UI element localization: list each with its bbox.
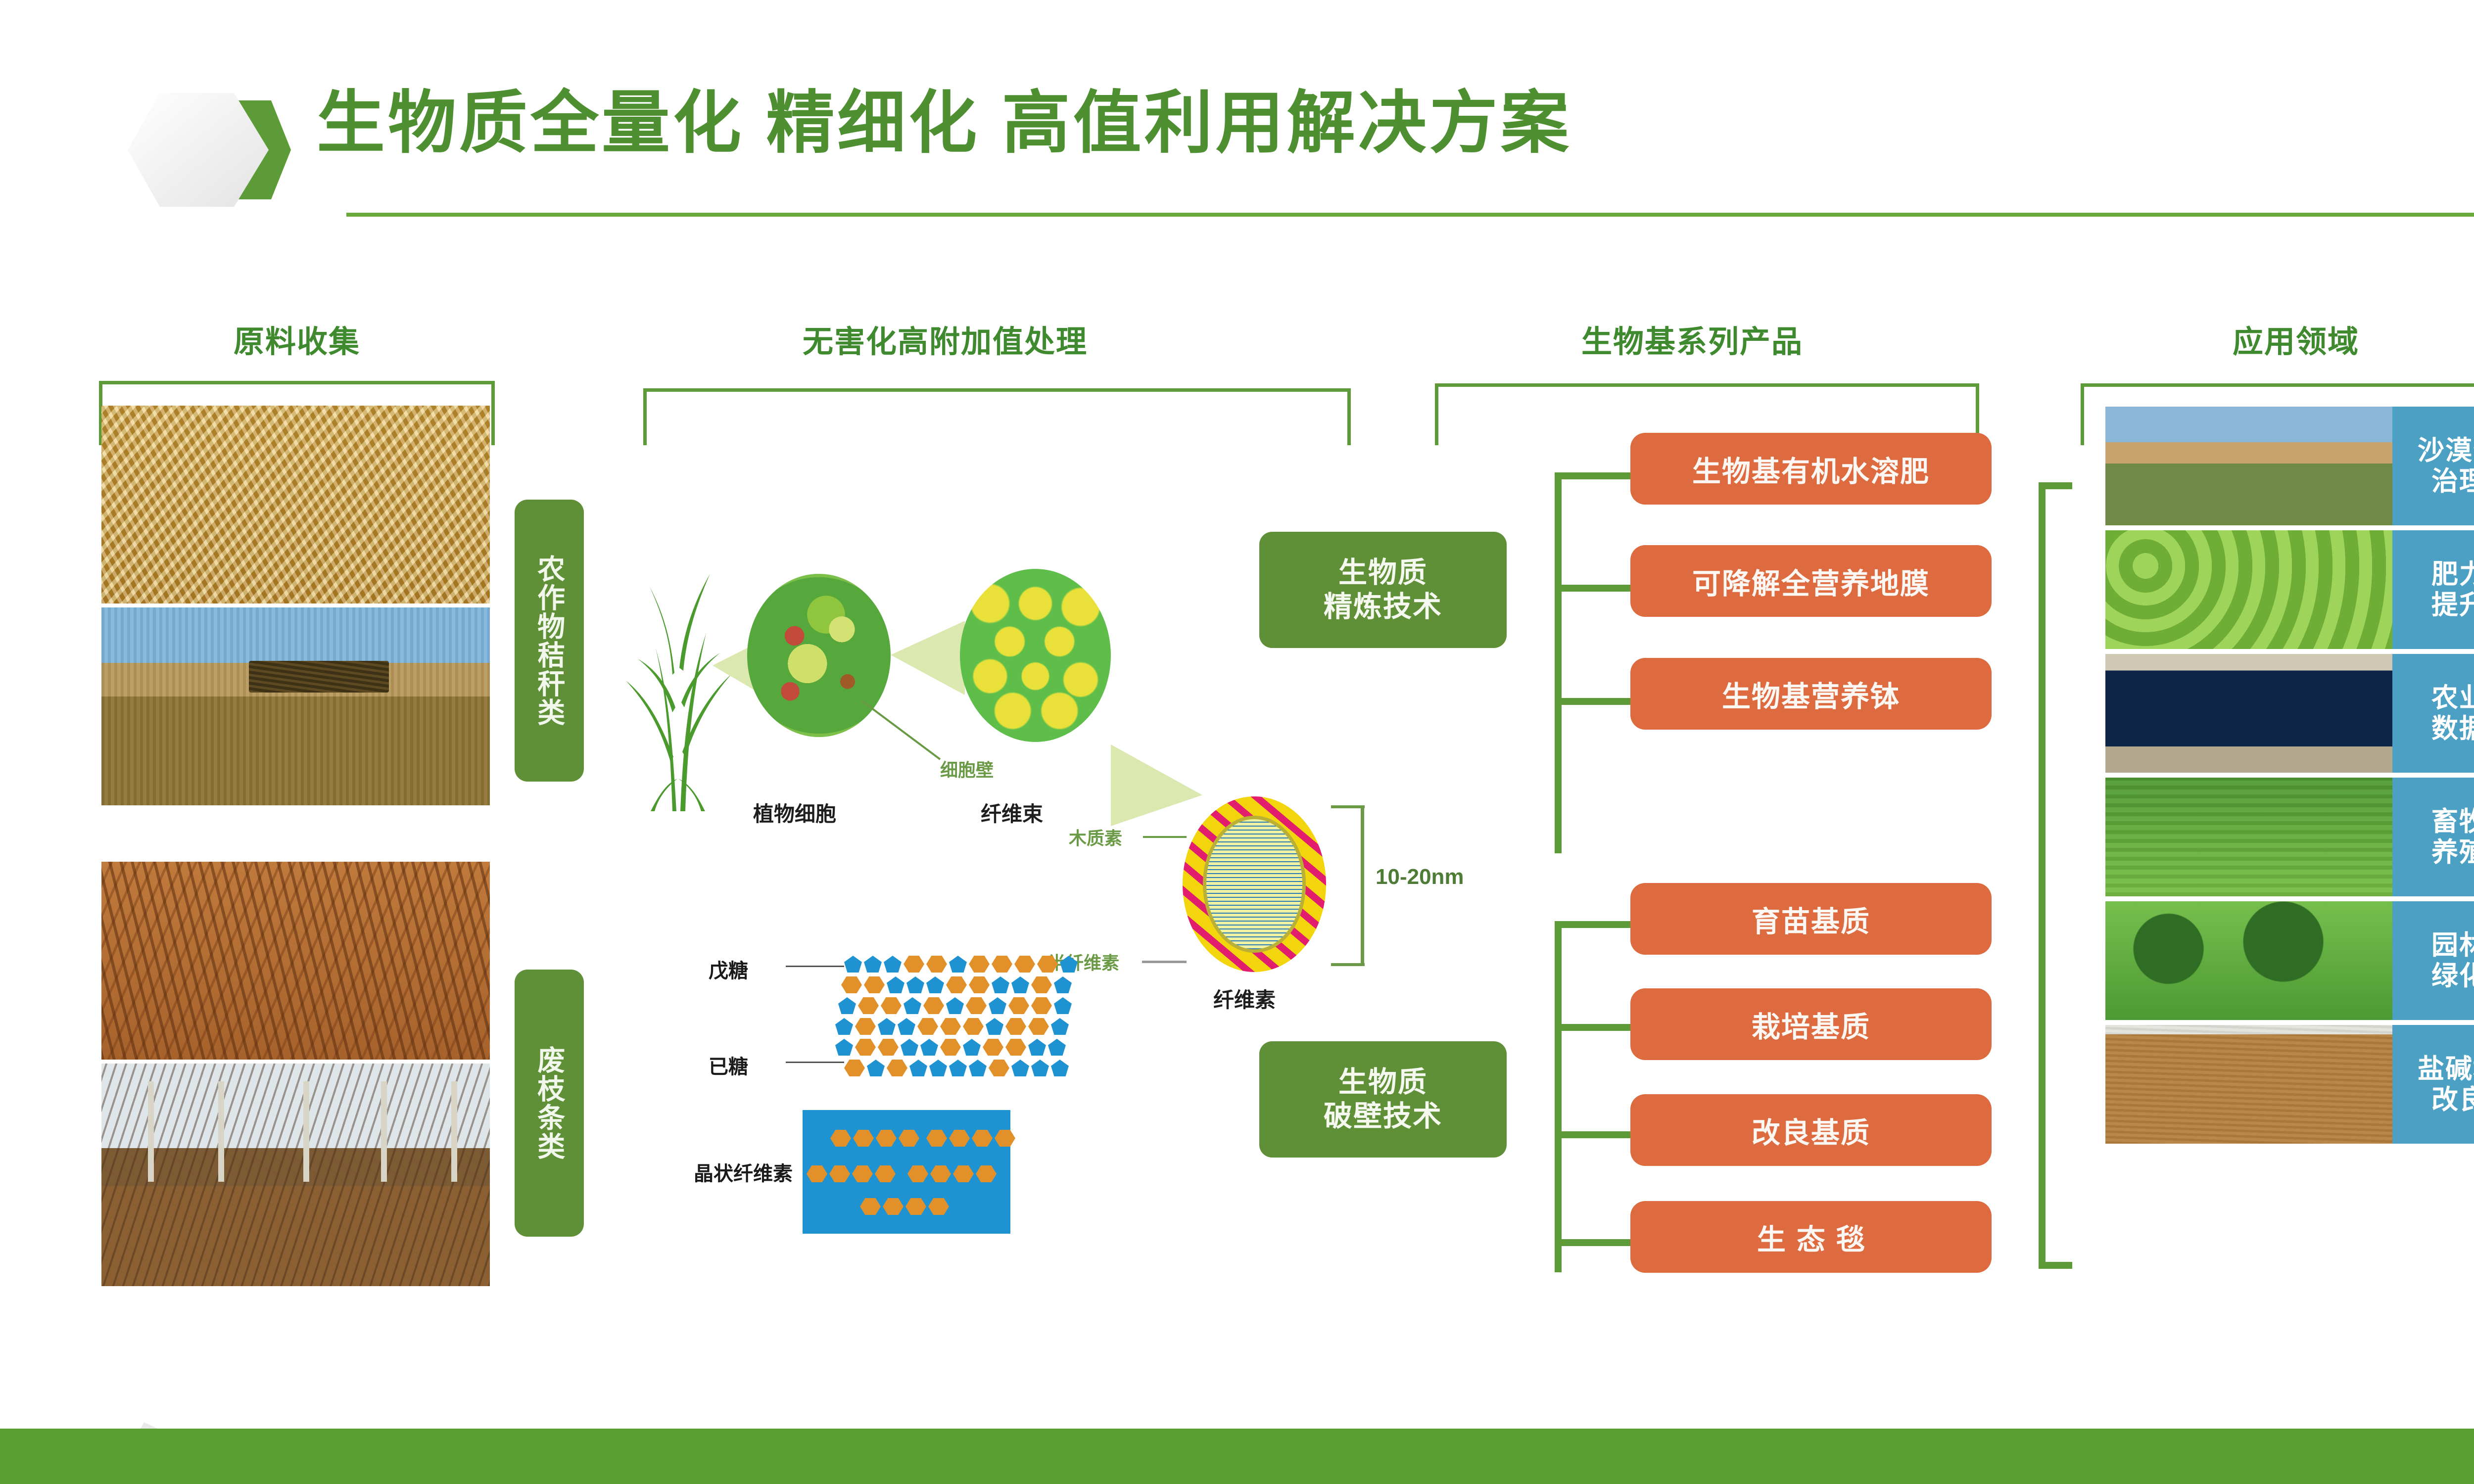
cabbage-field-photo [2105, 530, 2392, 649]
hemicellulose-leader-line [1142, 961, 1187, 963]
desert-control-photo [2105, 407, 2392, 525]
section-title-applications: 应用领域 [2098, 317, 2474, 361]
application-label-line2: 治理 [2431, 466, 2474, 497]
application-label-line1: 园林 [2431, 930, 2474, 961]
tech-label-line1: 生物质 [1338, 556, 1427, 590]
tech-label-line1: 生物质 [1338, 1066, 1427, 1099]
application-row[interactable]: 园林 绿化 [2105, 901, 2474, 1020]
applications-group-bracket [2039, 482, 2072, 1269]
park-trees-photo [2105, 901, 2392, 1020]
straw-bale-field-photo [101, 607, 490, 805]
sugar-chain-row [844, 956, 1078, 973]
product-pill[interactable]: 栽培基质 [1630, 988, 1992, 1060]
section-title-processing: 无害化高附加值处理 [594, 317, 1296, 361]
sugar-chain-row [835, 1039, 1066, 1056]
product-pill[interactable]: 可降解全营养地膜 [1630, 545, 1992, 617]
dry-branch-bundle-photo [101, 862, 490, 1060]
application-label: 园林 绿化 [2392, 901, 2474, 1020]
tech-label-line2: 精炼技术 [1324, 590, 1442, 624]
tech-pill-biorefining[interactable]: 生物质 精炼技术 [1259, 532, 1507, 648]
orchard-pruning-photo [101, 1064, 490, 1286]
application-row[interactable]: 农业 数据 [2105, 654, 2474, 773]
scale-bar-line [1361, 805, 1364, 966]
feedstock-tag-waste-branch: 废枝条类 [515, 970, 584, 1237]
tech-label-line2: 破壁技术 [1324, 1100, 1442, 1133]
connector-trunk-upper [1555, 472, 1562, 853]
application-label: 肥力 提升 [2392, 530, 2474, 649]
caption-fiber-bundle: 纤维束 [981, 797, 1043, 828]
product-pill[interactable]: 生物基有机水溶肥 [1630, 433, 1992, 505]
crystalline-cellulose-illustration [803, 1110, 1010, 1234]
section-title-products: 生物基系列产品 [1415, 317, 1969, 361]
application-label-line1: 肥力 [2431, 559, 2474, 590]
application-label-line2: 绿化 [2431, 961, 2474, 991]
section-title-collection: 原料收集 [163, 317, 430, 361]
product-pill[interactable]: 改良基质 [1630, 1094, 1992, 1166]
application-label-line1: 畜牧 [2431, 806, 2474, 837]
application-label-line1: 盐碱地 [2418, 1054, 2474, 1084]
feedstock-tag-label: 农作物秸秆类 [534, 555, 564, 727]
application-row[interactable]: 肥力 提升 [2105, 530, 2474, 649]
label-pentose: 戊糖 [709, 955, 748, 983]
beam-cell-to-bundle [891, 621, 965, 695]
tech-pill-cellwall-breaking[interactable]: 生物质 破壁技术 [1259, 1041, 1507, 1158]
cellulose-fiber-illustration [1183, 796, 1326, 972]
beam-bundle-to-fiber [1111, 744, 1202, 826]
pentose-leader-line [786, 966, 844, 967]
label-scale: 10-20nm [1376, 865, 1464, 889]
label-cell-wall: 细胞壁 [940, 756, 994, 782]
title-underline [346, 213, 2474, 217]
caption-cellulose: 纤维素 [1213, 983, 1276, 1014]
connector-trunk-lower [1555, 921, 1562, 1272]
bracket-processing [643, 388, 1351, 445]
sugar-chain-row [841, 976, 1072, 993]
application-label-line2: 提升 [2431, 590, 2474, 620]
hexagon-chevron-logo-icon [128, 73, 291, 227]
footer-bar [0, 1429, 2474, 1484]
application-label: 沙漠化 治理 [2392, 407, 2474, 525]
application-label: 畜牧 养殖 [2392, 778, 2474, 896]
application-label-line2: 改良 [2431, 1084, 2474, 1115]
scale-bar-bottom-tick [1331, 963, 1365, 966]
product-pill[interactable]: 生物基营养钵 [1630, 658, 1992, 730]
saline-soil-photo [2105, 1025, 2392, 1144]
application-label-line2: 数据 [2431, 713, 2474, 744]
scale-bar-top-tick [1331, 805, 1365, 808]
product-pill[interactable]: 生态毯 [1630, 1201, 1992, 1273]
application-label-line1: 农业 [2431, 683, 2474, 713]
application-row[interactable]: 沙漠化 治理 [2105, 407, 2474, 525]
caption-plant-cell: 植物细胞 [753, 797, 836, 828]
label-lignin: 木质素 [1069, 824, 1122, 850]
cell-wall-leader-line [861, 700, 950, 764]
application-label-line2: 养殖 [2431, 837, 2474, 868]
feedstock-tag-label: 废枝条类 [534, 1046, 564, 1160]
sugar-chain-row [838, 997, 1072, 1014]
label-crystalline-cellulose: 晶状纤维素 [694, 1158, 793, 1186]
corn-stalk-pile-photo [101, 406, 490, 603]
grass-plant-icon [621, 544, 735, 811]
application-row[interactable]: 畜牧 养殖 [2105, 778, 2474, 896]
application-label: 盐碱地 改良 [2392, 1025, 2474, 1144]
feedstock-tag-crop-straw: 农作物秸秆类 [515, 500, 584, 782]
sheep-grazing-photo [2105, 778, 2392, 896]
label-hexose: 已糖 [709, 1051, 748, 1079]
application-row[interactable]: 盐碱地 改良 [2105, 1025, 2474, 1144]
sugar-chain-row [844, 1060, 1069, 1076]
page-title: 生物质全量化 精细化 高值利用解决方案 [317, 89, 1572, 157]
data-control-room-photo [2105, 654, 2392, 773]
sugar-chain-row [835, 1018, 1069, 1035]
fiber-bundle-illustration [960, 569, 1111, 742]
hexose-leader-line [786, 1062, 844, 1063]
application-label-line1: 沙漠化 [2418, 435, 2474, 466]
product-pill[interactable]: 育苗基质 [1630, 883, 1992, 955]
lignin-leader-line [1143, 836, 1187, 838]
application-label: 农业 数据 [2392, 654, 2474, 773]
